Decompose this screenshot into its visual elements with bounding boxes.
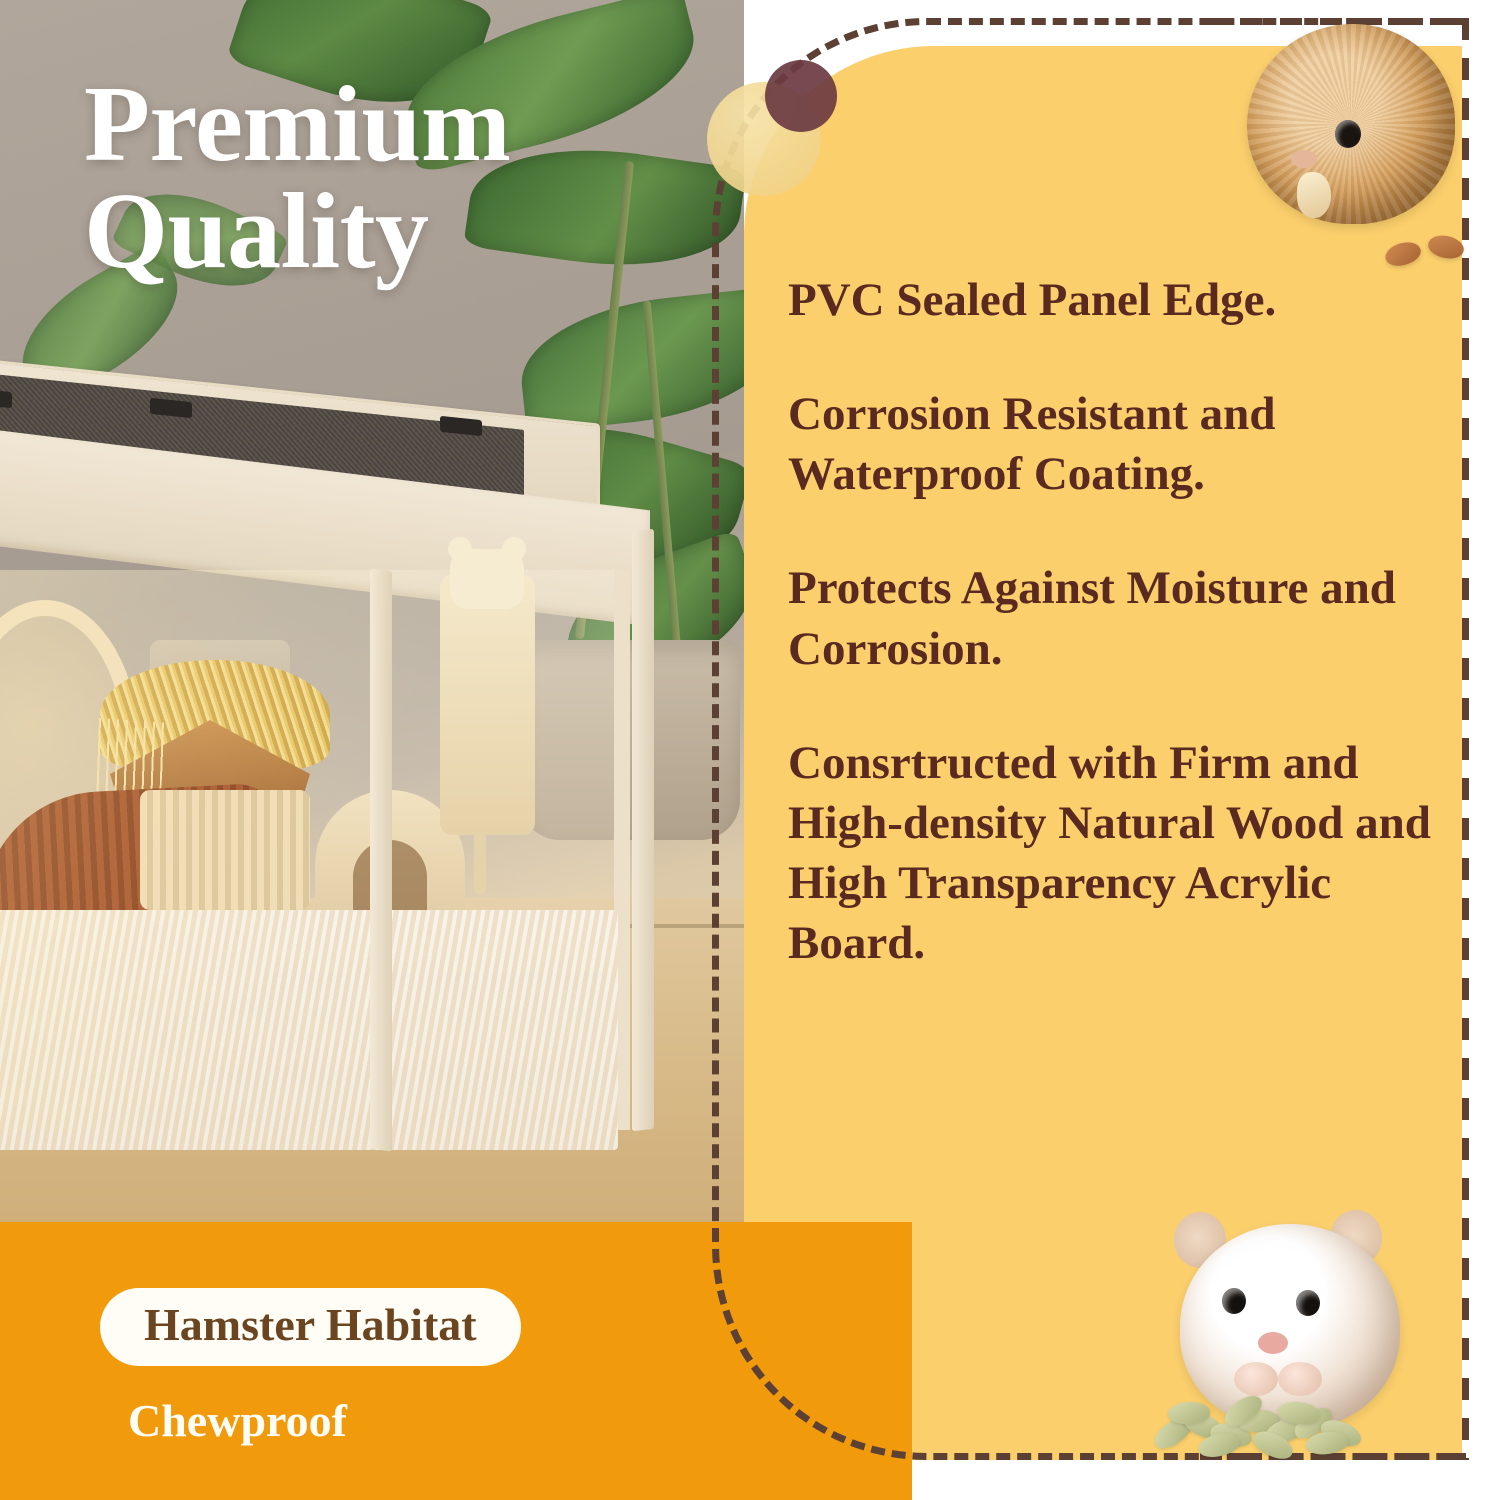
- wooden-platform: [140, 790, 310, 910]
- wood-shaving-bedding: [0, 910, 618, 1150]
- cage-corner-post: [632, 529, 654, 1131]
- hamster-body: [1180, 1224, 1400, 1429]
- hamster-eye: [1296, 1290, 1320, 1316]
- feature-item: Protects Against Moisture and Corrosion.: [788, 558, 1458, 678]
- bottle-spout: [474, 825, 486, 895]
- hamster-paw: [1278, 1362, 1322, 1396]
- headline-line-2: Quality: [84, 179, 704, 286]
- hamster-icon: [1233, 14, 1468, 254]
- promo-graphic: Premium Quality PVC Sealed Panel Edge. C…: [0, 0, 1488, 1500]
- hamster-nose: [1258, 1332, 1288, 1354]
- bear-cap-icon: [450, 549, 524, 609]
- water-bottle: [440, 575, 535, 835]
- hamster-eye: [1335, 120, 1361, 148]
- seed-pile: [1152, 1400, 1372, 1454]
- feature-item: PVC Sealed Panel Edge.: [788, 270, 1458, 330]
- hamster-nose: [1291, 150, 1317, 168]
- cage-corner-post: [370, 568, 392, 1151]
- hamster-paw: [1234, 1362, 1278, 1396]
- banner-subtitle: Chewproof: [128, 1398, 347, 1444]
- hamster-eye: [1222, 1288, 1246, 1314]
- decorative-circle-icon: [765, 60, 837, 132]
- headline-line-1: Premium: [84, 72, 704, 179]
- page-title: Premium Quality: [84, 72, 704, 286]
- food-piece-icon: [1297, 172, 1331, 218]
- feature-list: PVC Sealed Panel Edge. Corrosion Resista…: [788, 270, 1458, 973]
- product-name-badge: Hamster Habitat: [100, 1288, 521, 1366]
- hamster-cage: [0, 390, 660, 1180]
- feature-item: Corrosion Resistant and Waterproof Coati…: [788, 384, 1458, 504]
- feature-item: Consrtructed with Firm and High-density …: [788, 733, 1458, 974]
